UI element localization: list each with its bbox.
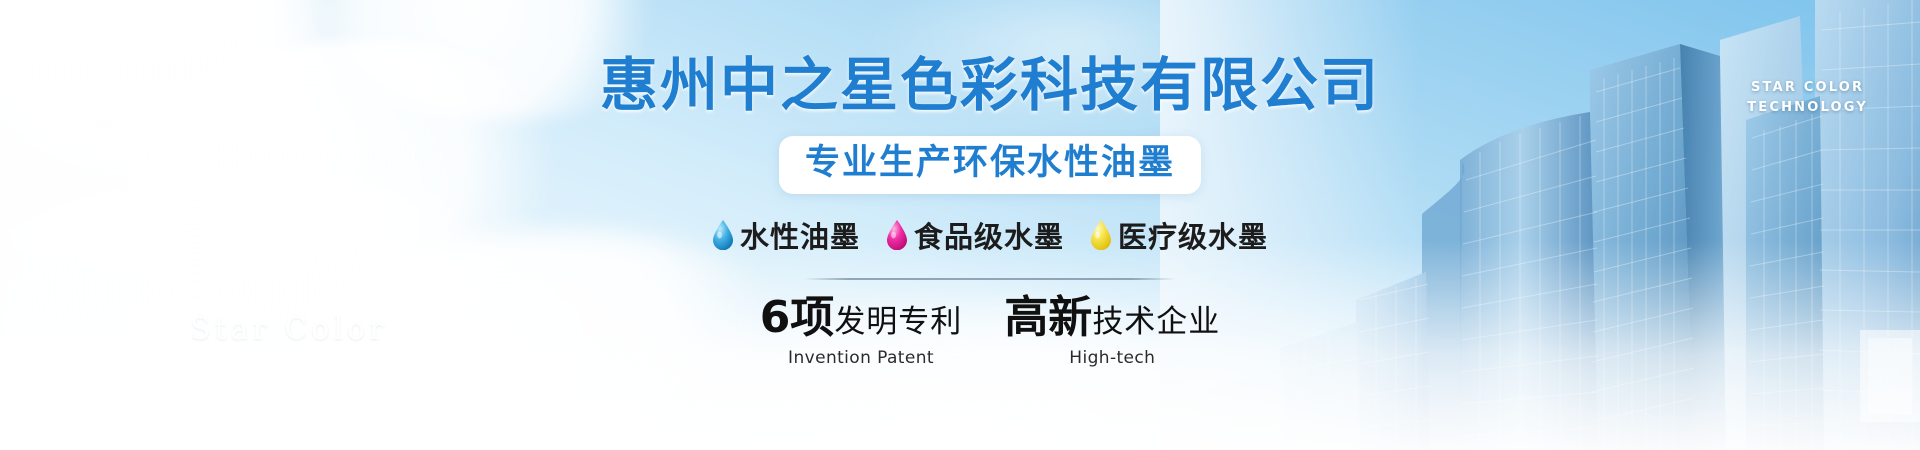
water-drop-icon — [886, 220, 908, 250]
subtitle-text: 专业生产环保水性油墨 — [805, 145, 1175, 182]
badge-main-text: 6项 发明专利 — [760, 296, 963, 340]
badge-highlight: 6项 — [760, 296, 835, 340]
badge-item: 6项 发明专利 Invention Patent — [760, 296, 963, 368]
badge-list: 6项 发明专利 Invention Patent 高新 技术企业 High-te… — [760, 296, 1221, 368]
water-drop-icon — [1090, 220, 1112, 250]
section-divider — [804, 278, 1176, 280]
badge-english-label: High-tech — [1069, 348, 1155, 368]
feature-item: 医疗级水墨 — [1090, 214, 1268, 256]
company-headline: 惠州中之星色彩科技有限公司 — [600, 56, 1380, 114]
badge-highlight: 高新 — [1004, 296, 1092, 340]
feature-item: 水性油墨 — [712, 214, 860, 256]
badge-subtext: 发明专利 — [834, 307, 962, 338]
feature-label: 食品级水墨 — [914, 214, 1064, 256]
badge-main-text: 高新 技术企业 — [1004, 296, 1220, 340]
feature-label: 医疗级水墨 — [1118, 214, 1268, 256]
badge-english-label: Invention Patent — [788, 348, 934, 368]
promo-banner: STAR COLOR TECHNOLOGY Star Color 惠州中之星色彩… — [0, 0, 1920, 450]
badge-item: 高新 技术企业 High-tech — [1004, 296, 1220, 368]
water-drop-icon — [712, 220, 734, 250]
feature-list: 水性油墨 食品级水墨 — [712, 214, 1268, 256]
feature-label: 水性油墨 — [740, 214, 860, 256]
subtitle-pill: 专业生产环保水性油墨 — [779, 136, 1201, 194]
banner-content: 惠州中之星色彩科技有限公司 专业生产环保水性油墨 水性油墨 — [0, 0, 1920, 450]
feature-item: 食品级水墨 — [886, 214, 1064, 256]
badge-subtext: 技术企业 — [1092, 307, 1220, 338]
